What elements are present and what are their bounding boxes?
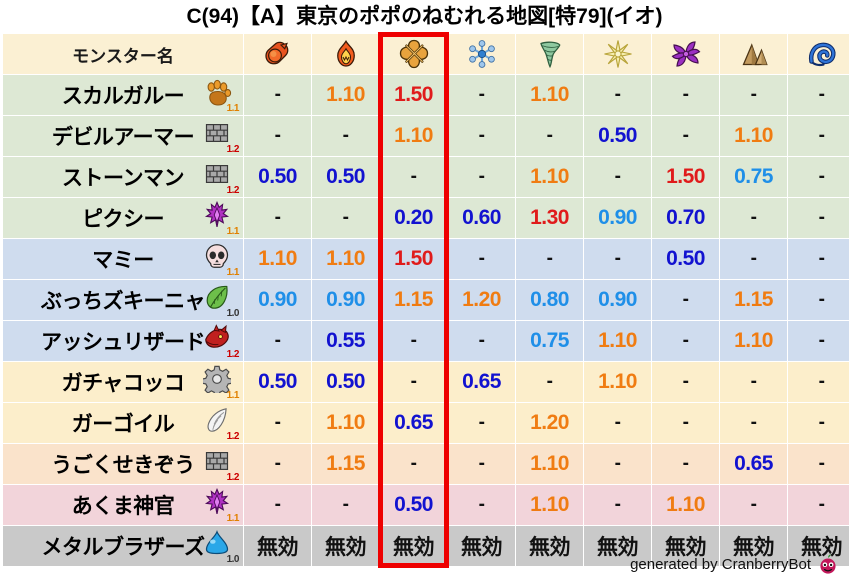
resistance-cell: - <box>312 485 379 525</box>
column-header-element-3[interactable] <box>380 34 447 74</box>
monster-name-label: ガチャコッコ <box>62 367 185 397</box>
resistance-cell: - <box>652 280 719 320</box>
monster-name-cell[interactable]: ストーンマン1.2 <box>3 157 243 197</box>
page-title: C(94)【A】東京のポポのねむれる地図[特79](イオ) <box>0 0 849 33</box>
resistance-cell: 0.75 <box>516 321 583 361</box>
resistance-cell: 0.65 <box>448 362 515 402</box>
resistance-cell: 1.20 <box>516 403 583 443</box>
table-row: うごくせきぞう1.2-1.15--1.10--0.65- <box>3 444 849 484</box>
resistance-cell: 1.10 <box>312 239 379 279</box>
resistance-cell: - <box>584 403 651 443</box>
monster-version-label: 1.0 <box>227 555 239 565</box>
resistance-cell: - <box>380 157 447 197</box>
resistance-cell: 0.50 <box>652 239 719 279</box>
explosion-icon <box>380 36 447 72</box>
resistance-cell: 1.10 <box>584 362 651 402</box>
snowflake-icon <box>448 36 515 72</box>
column-header-monster-name: モンスター名 <box>3 34 243 74</box>
column-header-element-9[interactable] <box>788 34 849 74</box>
resistance-cell: 1.10 <box>312 403 379 443</box>
monster-version-label: 1.2 <box>227 145 239 155</box>
resistance-cell: 1.10 <box>516 485 583 525</box>
resistance-cell: 1.50 <box>652 157 719 197</box>
table-row: ぶっちズキーニャ1.00.900.901.151.200.800.90-1.15… <box>3 280 849 320</box>
resistance-cell: 無効 <box>312 526 379 566</box>
resistance-cell: - <box>448 403 515 443</box>
resistance-cell: - <box>720 239 787 279</box>
resistance-cell: 1.10 <box>516 444 583 484</box>
resistance-cell: 1.10 <box>244 239 311 279</box>
resistance-cell: - <box>788 75 849 115</box>
monster-name-label: メタルブラザーズ <box>42 531 205 561</box>
resistance-cell: 1.10 <box>720 321 787 361</box>
column-header-element-1[interactable] <box>244 34 311 74</box>
resistance-cell: 0.55 <box>312 321 379 361</box>
resistance-cell: - <box>788 280 849 320</box>
resistance-cell: 0.50 <box>312 362 379 402</box>
resistance-table-container: モンスター名 スカルガルー1.1-1.101.50-1.10----デビルアーマ… <box>2 33 847 567</box>
spiral-icon <box>652 36 719 72</box>
resistance-cell: - <box>720 75 787 115</box>
monster-name-label: ぶっちズキーニャ <box>41 285 205 315</box>
resistance-cell: 1.10 <box>516 75 583 115</box>
table-row: スカルガルー1.1-1.101.50-1.10---- <box>3 75 849 115</box>
monster-name-cell[interactable]: スカルガルー1.1 <box>3 75 243 115</box>
resistance-cell: - <box>584 444 651 484</box>
monster-version-label: 1.1 <box>227 268 239 278</box>
resistance-cell: 0.50 <box>380 485 447 525</box>
column-header-element-6[interactable] <box>584 34 651 74</box>
resistance-cell: - <box>448 444 515 484</box>
resistance-table: モンスター名 スカルガルー1.1-1.101.50-1.10----デビルアーマ… <box>2 33 849 567</box>
resistance-cell: 1.10 <box>584 321 651 361</box>
resistance-cell: 1.15 <box>720 280 787 320</box>
resistance-cell: 無効 <box>516 526 583 566</box>
resistance-cell: - <box>584 239 651 279</box>
resistance-cell: - <box>448 157 515 197</box>
resistance-cell: 1.50 <box>380 239 447 279</box>
table-row: ガーゴイル1.2-1.100.65-1.20---- <box>3 403 849 443</box>
monster-name-cell[interactable]: ガチャコッコ1.1 <box>3 362 243 402</box>
resistance-cell: - <box>380 362 447 402</box>
table-row: ガチャコッコ1.10.500.50-0.65-1.10--- <box>3 362 849 402</box>
monster-version-label: 1.1 <box>227 104 239 114</box>
monster-version-label: 1.1 <box>227 514 239 524</box>
resistance-cell: 0.70 <box>652 198 719 238</box>
resistance-cell: 0.75 <box>720 157 787 197</box>
resistance-cell: - <box>788 239 849 279</box>
mountain-icon <box>720 36 787 72</box>
monster-version-label: 1.1 <box>227 227 239 237</box>
resistance-cell: - <box>244 403 311 443</box>
resistance-cell: - <box>788 116 849 156</box>
resistance-cell: 1.15 <box>380 280 447 320</box>
table-row: マミー1.11.101.101.50---0.50-- <box>3 239 849 279</box>
resistance-cell: - <box>312 116 379 156</box>
resistance-cell: 0.90 <box>244 280 311 320</box>
resistance-cell: - <box>652 444 719 484</box>
resistance-cell: - <box>652 116 719 156</box>
monster-name-label: デビルアーマー <box>52 121 194 151</box>
resistance-cell: - <box>720 403 787 443</box>
table-row: ストーンマン1.20.500.50--1.10-1.500.75- <box>3 157 849 197</box>
monster-name-label: ガーゴイル <box>72 408 175 438</box>
resistance-cell: 無効 <box>244 526 311 566</box>
table-row: ピクシー1.1--0.200.601.300.900.70-- <box>3 198 849 238</box>
monster-version-label: 1.2 <box>227 473 239 483</box>
resistance-cell: 0.90 <box>584 280 651 320</box>
resistance-cell: - <box>788 198 849 238</box>
resistance-cell: - <box>584 75 651 115</box>
footer: generated by CranberryBot <box>630 551 839 577</box>
resistance-cell: - <box>584 485 651 525</box>
resistance-cell: 1.20 <box>448 280 515 320</box>
tornado-icon <box>516 36 583 72</box>
wave-icon <box>788 36 849 72</box>
monster-version-label: 1.2 <box>227 186 239 196</box>
footer-credit-text: generated by CranberryBot <box>630 556 811 573</box>
monster-name-cell[interactable]: メタルブラザーズ1.0 <box>3 526 243 566</box>
resistance-cell: - <box>720 485 787 525</box>
monster-name-cell[interactable]: ピクシー1.1 <box>3 198 243 238</box>
monster-name-cell[interactable]: アッシュリザード1.2 <box>3 321 243 361</box>
monster-name-label: アッシュリザード <box>41 326 205 356</box>
monster-name-cell[interactable]: ぶっちズキーニャ1.0 <box>3 280 243 320</box>
column-header-element-2[interactable] <box>312 34 379 74</box>
resistance-cell: - <box>244 116 311 156</box>
resistance-cell: 0.50 <box>244 157 311 197</box>
resistance-cell: - <box>788 362 849 402</box>
resistance-cell: 0.80 <box>516 280 583 320</box>
resistance-cell: - <box>448 75 515 115</box>
resistance-cell: - <box>652 403 719 443</box>
resistance-cell: - <box>516 239 583 279</box>
resistance-cell: - <box>788 157 849 197</box>
resistance-cell: - <box>652 362 719 402</box>
resistance-cell: - <box>516 362 583 402</box>
resistance-cell: 0.60 <box>448 198 515 238</box>
resistance-cell: 1.10 <box>516 157 583 197</box>
resistance-cell: - <box>788 403 849 443</box>
monster-name-cell[interactable]: ガーゴイル1.2 <box>3 403 243 443</box>
resistance-cell: - <box>584 157 651 197</box>
resistance-cell: - <box>652 321 719 361</box>
resistance-cell: - <box>516 116 583 156</box>
monster-name-cell[interactable]: あくま神官1.1 <box>3 485 243 525</box>
resistance-cell: - <box>244 485 311 525</box>
column-header-element-4[interactable] <box>448 34 515 74</box>
resistance-cell: - <box>448 321 515 361</box>
resistance-cell: 0.90 <box>312 280 379 320</box>
resistance-cell: - <box>720 198 787 238</box>
resistance-cell: 1.15 <box>312 444 379 484</box>
resistance-cell: - <box>448 485 515 525</box>
table-row: アッシュリザード1.2-0.55--0.751.10-1.10- <box>3 321 849 361</box>
monster-name-cell[interactable]: デビルアーマー1.2 <box>3 116 243 156</box>
resistance-cell: - <box>720 362 787 402</box>
column-header-element-7[interactable] <box>652 34 719 74</box>
resistance-cell: - <box>652 75 719 115</box>
resistance-cell: 0.90 <box>584 198 651 238</box>
column-header-element-5[interactable] <box>516 34 583 74</box>
resistance-cell: - <box>448 116 515 156</box>
resistance-cell: - <box>244 75 311 115</box>
resistance-cell: 0.50 <box>312 157 379 197</box>
monster-name-label: ストーンマン <box>62 162 184 192</box>
resistance-cell: 1.10 <box>652 485 719 525</box>
monster-name-label: あくま神官 <box>72 490 175 520</box>
resistance-cell: 0.65 <box>380 403 447 443</box>
resistance-cell: 0.20 <box>380 198 447 238</box>
resistance-cell: 1.50 <box>380 75 447 115</box>
resistance-cell: - <box>244 444 311 484</box>
monster-name-label: うごくせきぞう <box>51 449 195 479</box>
resistance-cell: - <box>788 444 849 484</box>
resistance-cell: - <box>380 444 447 484</box>
monster-version-label: 1.0 <box>227 309 239 319</box>
resistance-cell: 0.50 <box>244 362 311 402</box>
resistance-cell: 1.10 <box>720 116 787 156</box>
resistance-cell: - <box>448 239 515 279</box>
monster-name-cell[interactable]: マミー1.1 <box>3 239 243 279</box>
starburst-icon <box>584 36 651 72</box>
resistance-cell: 無効 <box>380 526 447 566</box>
table-body: スカルガルー1.1-1.101.50-1.10----デビルアーマー1.2--1… <box>3 75 849 566</box>
monster-name-label: スカルガルー <box>62 80 184 110</box>
resistance-cell: 1.10 <box>380 116 447 156</box>
monster-name-label: ピクシー <box>82 203 164 233</box>
resistance-cell: 無効 <box>448 526 515 566</box>
resistance-cell: - <box>244 321 311 361</box>
resistance-cell: - <box>788 485 849 525</box>
monster-version-label: 1.2 <box>227 350 239 360</box>
meteor-icon <box>244 36 311 72</box>
resistance-cell: 0.65 <box>720 444 787 484</box>
monster-version-label: 1.2 <box>227 432 239 442</box>
monster-version-label: 1.1 <box>227 391 239 401</box>
page-root: C(94)【A】東京のポポのねむれる地図[特79](イオ) モンスター名 スカル… <box>0 0 849 583</box>
resistance-cell: 0.50 <box>584 116 651 156</box>
resistance-cell: 1.10 <box>312 75 379 115</box>
resistance-cell: - <box>244 198 311 238</box>
column-header-element-8[interactable] <box>720 34 787 74</box>
resistance-cell: 1.30 <box>516 198 583 238</box>
cranberry-bot-icon <box>817 553 839 575</box>
resistance-cell: - <box>380 321 447 361</box>
table-row: デビルアーマー1.2--1.10--0.50-1.10- <box>3 116 849 156</box>
resistance-cell: - <box>312 198 379 238</box>
flame-icon <box>312 36 379 72</box>
resistance-cell: - <box>788 321 849 361</box>
monster-name-cell[interactable]: うごくせきぞう1.2 <box>3 444 243 484</box>
table-row: あくま神官1.1--0.50-1.10-1.10-- <box>3 485 849 525</box>
monster-name-label: マミー <box>92 244 154 274</box>
table-header-row: モンスター名 <box>3 34 849 74</box>
